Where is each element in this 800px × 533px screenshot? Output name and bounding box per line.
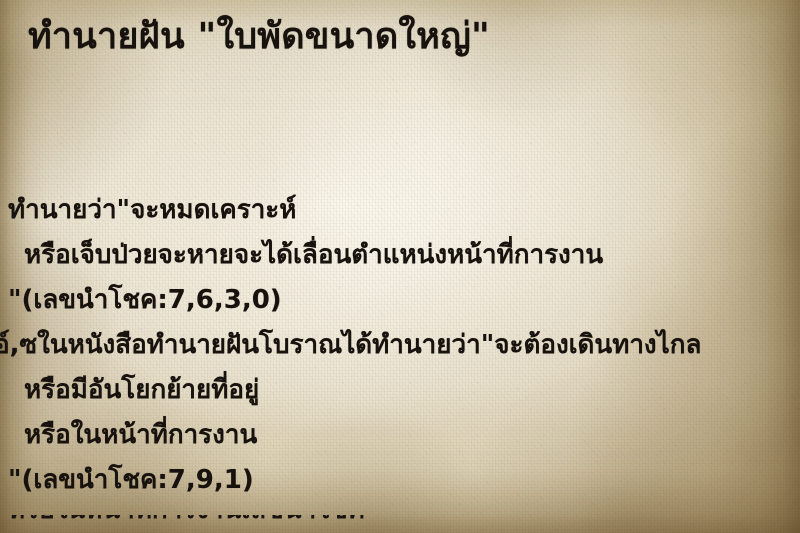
interpretation-text-block: ทำนายว่า"จะหมดเคราะห์ หรือเจ็บป่วยจะหายจ…: [0, 188, 800, 503]
text-line-5: หรือมีอันโยกย้ายที่อยู่: [0, 368, 800, 413]
text-line-7-lucky-numbers: "(เลขนำโชค:7,9,1): [0, 458, 800, 503]
text-line-6: หรือในหน้าที่การงาน: [0, 413, 800, 458]
bottom-clipped-text-line: หรือในหน้าที่การงานเลขนำโชค: [8, 515, 768, 533]
bottom-clipped-text: หรือในหน้าที่การงานเลขนำโชค: [8, 515, 768, 533]
text-line-4: อ์,ซในหนังสือทำนายฝันโบราณได้ทำนายว่า"จะ…: [0, 323, 800, 368]
text-line-3-lucky-numbers: "(เลขนำโชค:7,6,3,0): [0, 278, 800, 323]
page-content: ทำนายฝัน "ใบพัดขนาดใหญ่" ทำนายว่า"จะหมดเ…: [0, 0, 800, 533]
text-line-1: ทำนายว่า"จะหมดเคราะห์: [0, 188, 800, 233]
dream-interpretation-page: ทำนายฝัน "ใบพัดขนาดใหญ่" ทำนายว่า"จะหมดเ…: [0, 0, 800, 533]
text-line-2: หรือเจ็บป่วยจะหายจะได้เลื่อนตำแหน่งหน้าท…: [0, 233, 800, 278]
page-title: ทำนายฝัน "ใบพัดขนาดใหญ่": [28, 14, 490, 60]
